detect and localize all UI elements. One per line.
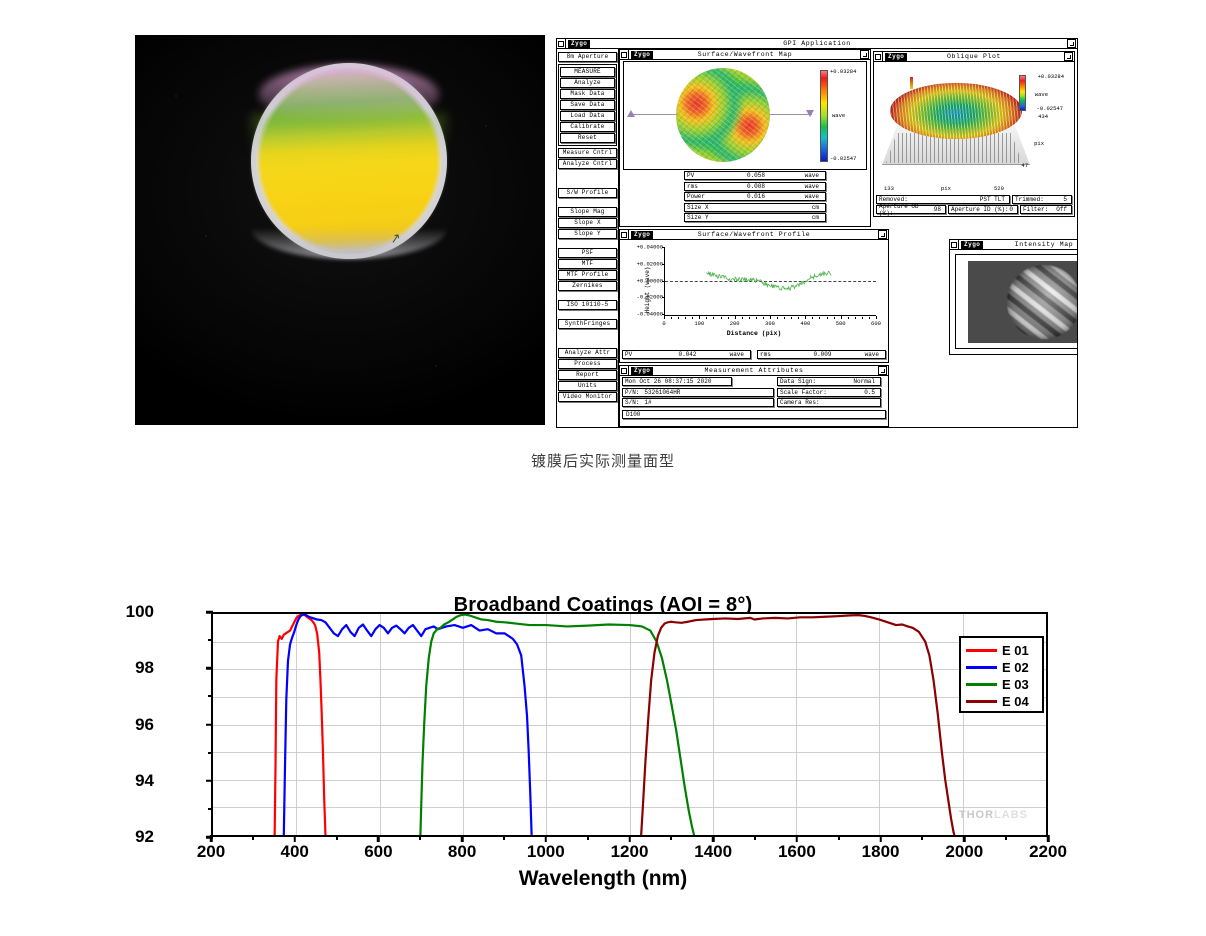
chart-xtick-label: 1000	[527, 842, 565, 862]
wavefront-map-canvas: +0.03284 wave -0.02547	[623, 61, 867, 170]
profile-xtick-label: 400	[800, 320, 810, 327]
surface-wavefront-profile-window[interactable]: Zygo Surface/Wavefront Profile Height (w…	[619, 229, 889, 363]
profile-xtick-minor	[706, 317, 707, 319]
sidebar-item-slope-y[interactable]: Slope Y	[558, 229, 617, 239]
sidebar-item-mtf[interactable]: MTF	[558, 259, 617, 269]
sidebar-item-process[interactable]: Process	[558, 359, 617, 369]
profile-xtick-mark	[805, 316, 806, 319]
sidebar-item-synth-fringes[interactable]: SynthFringes	[558, 319, 617, 329]
profile-xtick-minor	[713, 317, 714, 319]
sidebar-item-load-data[interactable]: Load Data	[560, 111, 615, 121]
sidebar-item-iso-10110-5[interactable]: ISO 10110-5	[558, 300, 617, 310]
oblique-status-trimmed: Trimmed: 5	[1012, 195, 1072, 204]
intensity-map-window[interactable]: Zygo Intensity Map	[949, 239, 1078, 355]
profile-field-pv-label: PV	[625, 351, 661, 358]
profile-xtick-minor	[777, 317, 778, 319]
window-resize-icon[interactable]	[1067, 39, 1076, 48]
sidebar-item-analyze-cntrl[interactable]: Analyze Cntrl	[558, 159, 617, 169]
attr-serial-number[interactable]: S/N: 1#	[622, 398, 774, 407]
profile-xtick-minor	[685, 317, 686, 319]
attr-scale-factor: Scale Factor: 0.5	[777, 388, 881, 397]
profile-field-rms: rms 0.009 wave	[757, 350, 886, 359]
profile-xtick-mark	[876, 316, 877, 319]
window-resize-icon[interactable]	[878, 366, 887, 375]
attr-part-number[interactable]: P/N: 53261064HR	[622, 388, 774, 397]
sidebar-main-group: MEASURE Analyze Mask Data Save Data Load…	[558, 64, 617, 146]
map-field-rms: rms 0.008 wave	[684, 182, 826, 191]
profile-xtick-minor	[862, 317, 863, 319]
profile-xtick-minor	[834, 317, 835, 319]
profile-ytick-4: -0.02000	[637, 294, 663, 301]
profile-xtick-minor	[742, 317, 743, 319]
chart-ytick-label: 96	[135, 715, 154, 735]
map-colorbar-unit: wave	[832, 112, 845, 119]
sidebar-aperture-button[interactable]: 8m Aperture	[558, 52, 617, 62]
profile-xtick-mark	[770, 316, 771, 319]
window-resize-icon[interactable]	[1064, 52, 1073, 61]
profile-field-rms-unit: wave	[849, 351, 883, 358]
profile-ytick-5: -0.04000	[637, 311, 663, 318]
sidebar-item-sw-profile[interactable]: S/W Profile	[558, 188, 617, 198]
sidebar-item-reset[interactable]: Reset	[560, 133, 615, 143]
chart-xtick-label: 800	[448, 842, 476, 862]
oblique-surface-3d	[882, 77, 1030, 165]
oblique-status-trimmed-value: 5	[1044, 196, 1069, 203]
profile-xtick-minor	[848, 317, 849, 319]
profile-xtick-mark	[735, 316, 736, 319]
oblique-title-bar[interactable]: Zygo Oblique Plot	[874, 52, 1074, 62]
attr-serial-number-value: 1#	[644, 399, 651, 406]
intensity-title-bar[interactable]: Zygo Intensity Map	[950, 240, 1078, 250]
profile-xtick-minor	[798, 317, 799, 319]
profile-xtick-mark	[664, 316, 665, 319]
profile-field-pv: PV 0.042 wave	[622, 350, 751, 359]
intensity-disc-sheen	[1007, 265, 1078, 339]
profile-plot-area: +0.04000 +0.02000 +0.00000 -0.02000 -0.0…	[664, 247, 876, 314]
oblique-axis-x-left: 133	[884, 185, 894, 192]
sidebar-item-units[interactable]: Units	[558, 381, 617, 391]
chart-legend-label: E 01	[1002, 643, 1029, 658]
attr-note-value: D100	[626, 411, 640, 418]
dust-speck	[485, 125, 487, 127]
gpi-window-title: GPI Application	[557, 40, 1077, 47]
profile-trace-svg	[665, 247, 876, 314]
profile-field-pv-value: 0.042	[661, 351, 714, 358]
map-field-power: Power 0.016 wave	[684, 192, 826, 201]
map-field-rms-unit: wave	[789, 183, 823, 190]
sidebar-item-report[interactable]: Report	[558, 370, 617, 380]
profile-readout-fields: PV 0.042 wave rms 0.009 wave	[622, 350, 886, 361]
oblique-status-aperture-od-label: Aperture OD (%):	[879, 203, 934, 217]
sidebar-item-save-data[interactable]: Save Data	[560, 100, 615, 110]
map-field-pv-value: 0.058	[723, 172, 789, 179]
map-field-pv-unit: wave	[789, 172, 823, 179]
chart-ytick-label: 98	[135, 658, 154, 678]
sidebar-item-measure[interactable]: MEASURE	[560, 67, 615, 77]
chart-xtick-label: 1600	[778, 842, 816, 862]
sidebar-item-psf[interactable]: PSF	[558, 248, 617, 258]
coated-optic-disc: ↗	[251, 63, 447, 259]
chart-plot-area: E 01E 02E 03E 04 THORLABS	[211, 612, 1048, 837]
profile-xtick-mark	[699, 316, 700, 319]
map-colorbar-max: +0.03284	[830, 68, 856, 75]
profile-xtick-minor	[763, 317, 764, 319]
profile-xtick-minor	[671, 317, 672, 319]
map-field-rms-label: rms	[687, 183, 723, 190]
chart-xtick-label: 200	[197, 842, 225, 862]
oblique-axis-x-label: pix	[941, 185, 951, 192]
intensity-window-title: Intensity Map	[950, 241, 1078, 248]
profile-xtick-label: 0	[662, 320, 665, 327]
sidebar-item-analyze-attr[interactable]: Analyze Attr	[558, 348, 617, 358]
chart-xtick-label: 1200	[611, 842, 649, 862]
oblique-status-aperture-od-value: 98	[934, 206, 943, 213]
oblique-status-aperture-od: Aperture OD (%): 98	[876, 205, 946, 214]
map-field-power-value: 0.016	[723, 193, 789, 200]
profile-xtick-minor	[827, 317, 828, 319]
chart-xtick-label: 600	[364, 842, 392, 862]
oblique-status-aperture-id-label: Aperture ID (%):	[951, 206, 1009, 213]
intensity-fringe-disc	[1007, 265, 1078, 339]
window-resize-icon[interactable]	[878, 230, 887, 239]
profile-xtick-label: 100	[694, 320, 704, 327]
oblique-plot-canvas: +0.03284 wave -0.02547 434 pix 47 133 pi…	[876, 63, 1072, 195]
profile-xtick-minor	[812, 317, 813, 319]
profile-window-title: Surface/Wavefront Profile	[620, 231, 888, 238]
attr-data-sign-label: Data Sign:	[780, 378, 816, 385]
oblique-axis-near-value: 434	[1038, 113, 1048, 120]
chart-legend-swatch	[966, 683, 997, 686]
chart-xtick-label: 1800	[862, 842, 900, 862]
attr-scale-factor-label: Scale Factor:	[780, 389, 827, 396]
oblique-surface-texture	[890, 83, 1022, 139]
oblique-status-filter: Filter: Off	[1020, 205, 1072, 214]
map-title-bar[interactable]: Zygo Surface/Wavefront Map	[620, 50, 870, 60]
map-field-pv: PV 0.058 wave	[684, 171, 826, 180]
oblique-spike	[910, 77, 913, 89]
optic-edge-ring	[251, 63, 447, 259]
profile-xtick-minor	[784, 317, 785, 319]
map-field-power-label: Power	[687, 193, 723, 200]
oblique-status-aperture-id-value: 0	[1009, 206, 1015, 213]
dust-speck	[205, 235, 207, 237]
sidebar-item-mask-data[interactable]: Mask Data	[560, 89, 615, 99]
oblique-colorbar	[1019, 75, 1026, 111]
profile-xtick-minor	[791, 317, 792, 319]
profile-ytick-1: +0.04000	[637, 244, 663, 251]
intensity-map-image	[968, 261, 1078, 343]
oblique-status-filter-label: Filter:	[1023, 206, 1048, 213]
wavefront-map-image	[676, 68, 770, 162]
chart-series-line-e03	[420, 615, 694, 835]
attributes-window-title: Measurement Attributes	[620, 367, 888, 374]
profile-ytick-3: +0.00000	[637, 277, 663, 284]
gpi-title-bar[interactable]: Zygo GPI Application	[557, 39, 1077, 49]
map-field-size-x-label: Size X	[687, 204, 723, 211]
oblique-window-title: Oblique Plot	[874, 53, 1074, 60]
intensity-map-canvas	[955, 254, 1078, 349]
zygo-gpi-application-window[interactable]: Zygo GPI Application 8m Aperture MEASURE…	[556, 38, 1078, 428]
profile-handle-right-icon[interactable]	[806, 110, 814, 117]
map-field-power-unit: wave	[789, 193, 823, 200]
dust-speck	[435, 365, 437, 367]
profile-xtick-label: 300	[765, 320, 775, 327]
sidebar-item-zernikes[interactable]: Zernikes	[558, 281, 617, 291]
profile-xtick-minor	[749, 317, 750, 319]
chart-ytick-label: 92	[135, 827, 154, 847]
oblique-status-bar: Removed: PST TLT Trimmed: 5 Aperture OD …	[876, 193, 1072, 214]
chart-ytick-label: 100	[126, 602, 154, 622]
attr-part-number-value: 53261064HR	[644, 389, 680, 396]
attr-timestamp-value: Mon Oct 26 08:37:15 2020	[625, 378, 711, 385]
profile-xtick-label: 600	[871, 320, 881, 327]
sidebar-item-measure-cntrl[interactable]: Measure Cntrl	[558, 148, 617, 158]
chart-legend-swatch	[966, 649, 997, 652]
gpi-sidebar[interactable]: 8m Aperture MEASURE Analyze Mask Data Sa…	[557, 49, 619, 427]
chart-legend-item: E 04	[966, 693, 1037, 710]
profile-x-axis-label: Distance (pix)	[622, 330, 886, 337]
attr-serial-number-label: S/N:	[625, 399, 639, 406]
chart-ytick-label: 94	[135, 771, 154, 791]
attributes-title-bar[interactable]: Zygo Measurement Attributes	[620, 366, 888, 376]
oblique-colorbar-min: -0.02547	[1037, 105, 1063, 112]
oblique-status-aperture-id: Aperture ID (%): 0	[948, 205, 1018, 214]
oblique-axis-y-label: pix	[1034, 140, 1044, 147]
oblique-status-filter-value: Off	[1048, 206, 1069, 213]
profile-xtick-minor	[728, 317, 729, 319]
map-field-size-y-unit: cm	[789, 214, 823, 221]
window-resize-icon[interactable]	[860, 50, 869, 59]
sidebar-item-analyze[interactable]: Analyze	[560, 78, 615, 88]
attr-data-sign-value: Normal	[816, 378, 878, 385]
profile-xtick-minor	[721, 317, 722, 319]
sidebar-item-slope-x[interactable]: Slope X	[558, 218, 617, 228]
profile-handle-left-icon[interactable]	[627, 110, 635, 117]
dust-speck	[175, 95, 177, 97]
sidebar-item-calibrate[interactable]: Calibrate	[560, 122, 615, 132]
chart-legend-item: E 01	[966, 642, 1037, 659]
attr-scale-factor-value: 0.5	[827, 389, 878, 396]
chart-legend-label: E 04	[1002, 694, 1029, 709]
map-colorbar-min: -0.02547	[830, 155, 856, 162]
map-field-size-y-label: Size Y	[687, 214, 723, 221]
profile-xtick-minor	[869, 317, 870, 319]
profile-ytick-2: +0.02000	[637, 260, 663, 267]
profile-field-rms-label: rms	[760, 351, 796, 358]
chart-xtick-label: 1400	[694, 842, 732, 862]
profile-xtick-label: 200	[730, 320, 740, 327]
map-streaks-cross	[676, 68, 770, 162]
chart-legend-label: E 02	[1002, 660, 1029, 675]
profile-xtick-minor	[855, 317, 856, 319]
chart-xtick-label: 2200	[1029, 842, 1067, 862]
map-field-rms-value: 0.008	[723, 183, 789, 190]
oblique-status-removed-value: PST TLT	[908, 196, 1007, 203]
oblique-colorbar-unit: wave	[1035, 91, 1048, 98]
map-field-pv-label: PV	[687, 172, 723, 179]
oblique-status-trimmed-label: Trimmed:	[1015, 196, 1044, 203]
chart-x-axis-label: Wavelength (nm)	[0, 867, 1206, 891]
chart-xtick-label: 2000	[945, 842, 983, 862]
chart-series-svg	[213, 614, 1046, 835]
attr-note[interactable]: D100	[622, 410, 886, 419]
map-field-size-x-unit: cm	[789, 204, 823, 211]
figure-caption: 镀膜后实际测量面型	[0, 450, 1206, 471]
sidebar-item-mtf-profile[interactable]: MTF Profile	[558, 270, 617, 280]
oblique-plot-window[interactable]: Zygo Oblique Plot +0.03284 wave -	[873, 51, 1075, 217]
attr-data-sign: Data Sign: Normal	[777, 377, 881, 386]
oblique-status-removed-label: Removed:	[879, 196, 908, 203]
oblique-colorbar-max: +0.03284	[1038, 73, 1064, 80]
map-window-title: Surface/Wavefront Map	[620, 51, 870, 58]
chart-legend-item: E 03	[966, 676, 1037, 693]
oblique-axis-y-value: 47	[1021, 162, 1028, 169]
profile-title-bar[interactable]: Zygo Surface/Wavefront Profile	[620, 230, 888, 240]
chart-legend-label: E 03	[1002, 677, 1029, 692]
map-readout-fields: PV 0.058 wave rms 0.008 wave Power 0.016…	[684, 171, 826, 224]
map-field-size-y: Size Y cm	[684, 213, 826, 222]
sidebar-item-video-monitor[interactable]: Video Monitor	[558, 392, 617, 402]
profile-plot-canvas: Height (wave) +0.04000 +0.02000 +0.00000…	[622, 241, 886, 338]
chart-xtick-label: 400	[281, 842, 309, 862]
profile-field-rms-value: 0.009	[796, 351, 849, 358]
thorlabs-watermark: THORLABS	[959, 809, 1028, 821]
profile-xtick-mark	[841, 316, 842, 319]
profile-xtick-minor	[756, 317, 757, 319]
profile-field-pv-unit: wave	[714, 351, 748, 358]
sidebar-item-slope-mag[interactable]: Slope Mag	[558, 207, 617, 217]
chart-series-line-e01	[275, 614, 326, 835]
profile-xtick-minor	[819, 317, 820, 319]
map-colorbar	[820, 70, 828, 162]
chart-legend: E 01E 02E 03E 04	[959, 636, 1044, 713]
surface-wavefront-map-window[interactable]: Zygo Surface/Wavefront Map +0.03284 wave	[619, 49, 871, 227]
profile-xtick-minor	[692, 317, 693, 319]
measurement-attributes-window[interactable]: Zygo Measurement Attributes Mon Oct 26 0…	[619, 365, 889, 427]
map-field-size-x: Size X cm	[684, 203, 826, 212]
chart-legend-item: E 02	[966, 659, 1037, 676]
coated-optic-photo: ↗	[135, 35, 545, 425]
broadband-coatings-chart: Broadband Coatings (AOI = 8°) Reflectanc…	[0, 585, 1206, 905]
attr-timestamp: Mon Oct 26 08:37:15 2020	[622, 377, 732, 386]
attr-part-number-label: P/N:	[625, 389, 639, 396]
chart-legend-swatch	[966, 700, 997, 703]
chart-legend-swatch	[966, 666, 997, 669]
profile-xtick-label: 500	[836, 320, 846, 327]
attr-camera-res-label: Camera Res:	[780, 399, 820, 406]
oblique-axis-x-right: 520	[994, 185, 1004, 192]
profile-y-axis-label: Height (wave)	[644, 266, 651, 313]
profile-xtick-minor	[678, 317, 679, 319]
attr-camera-res: Camera Res:	[777, 398, 881, 407]
